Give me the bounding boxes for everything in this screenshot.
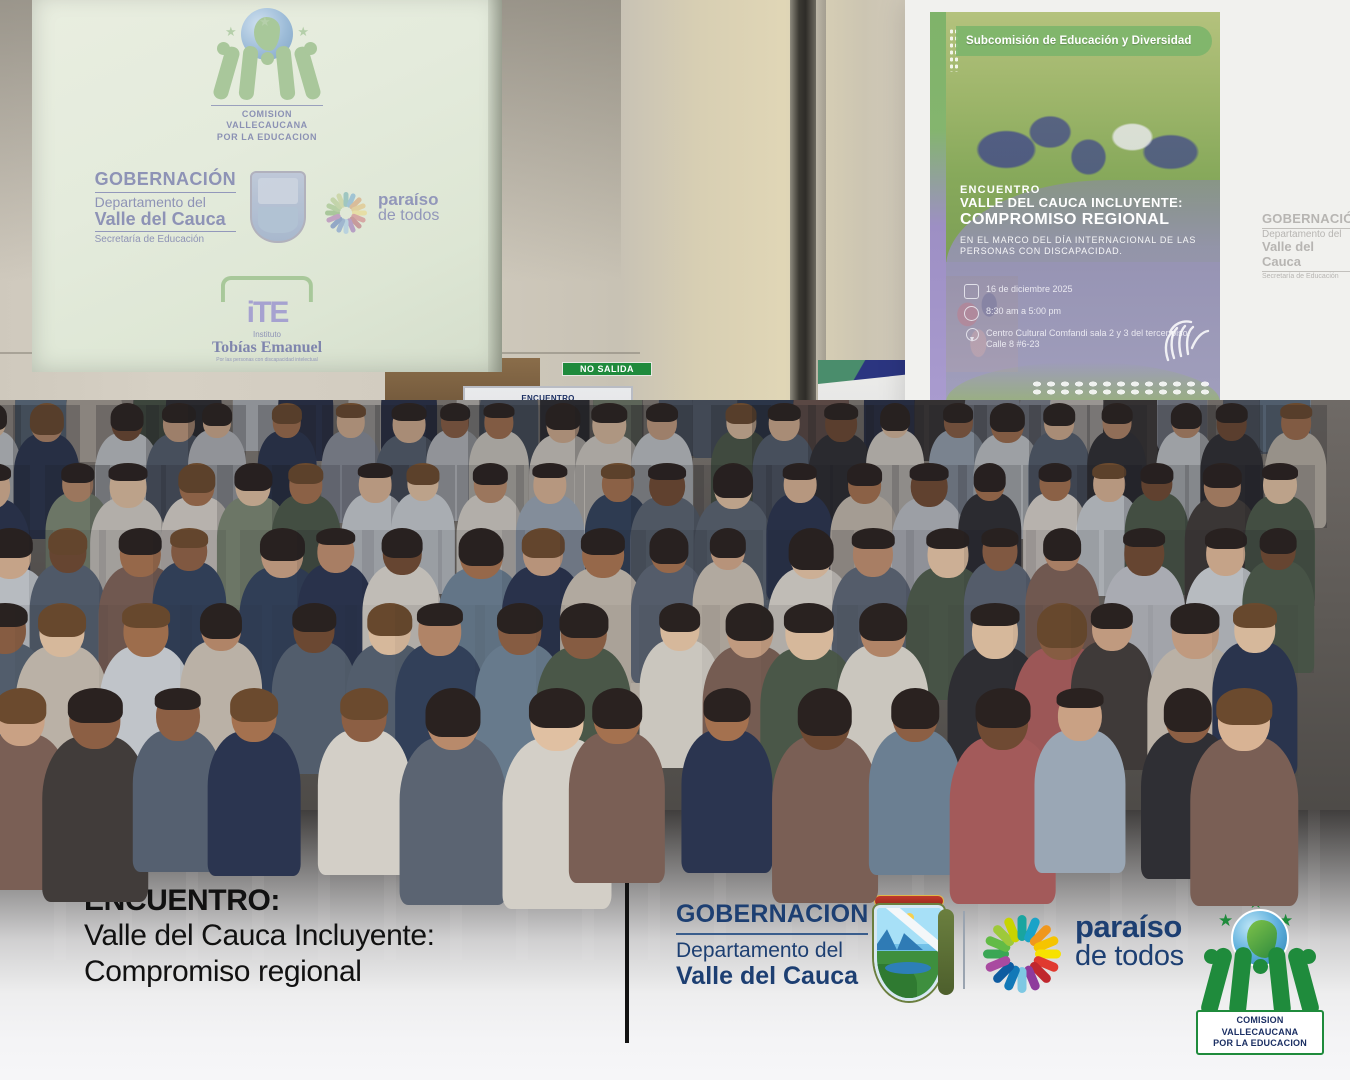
instituto-line-3: Por las personas con discapacidad intele…: [212, 357, 322, 363]
crowd-person: [1035, 690, 1126, 873]
left-projection-screen: ★ ★ ★ COMISION VALLECAUCANA POR LA EDUCA…: [32, 0, 502, 372]
footer-comision-logo: ★ ★ ★ COMISION VALLECAUCANA POR LA EDUCA…: [1190, 887, 1330, 1055]
footer-gobernacion-logo: GOBERNACIÓN Departamento del Valle del C…: [676, 901, 868, 990]
projected-paraiso-logo: paraíso de todos: [320, 181, 439, 233]
person-torso: [569, 732, 665, 883]
crowd-person: [318, 690, 410, 875]
footer-paraiso-logo: paraíso de todos: [978, 897, 1184, 985]
footer-divider: [625, 876, 629, 1043]
person-hair: [975, 688, 1030, 728]
person-hair: [704, 688, 751, 722]
paraiso-line-2: de todos: [378, 208, 439, 224]
crowd-person: [772, 690, 878, 903]
no-salida-sign: NO SALIDA: [562, 362, 652, 376]
projected-gobernacion-row: GOBERNACIÓN Departamento del Valle del C…: [32, 170, 502, 245]
far-gobernacion-line-3: Valle del Cauca: [1262, 240, 1350, 272]
crowd-person: [1190, 690, 1297, 906]
person-hair: [1057, 688, 1104, 708]
location-pin-icon: [964, 328, 979, 343]
gobernacion-line-3: Valle del Cauca: [95, 210, 236, 232]
rollup-banner-header: [818, 360, 908, 384]
comision-line-2: VALLECAUCANA: [211, 120, 323, 131]
slide-header-text: Subcomisión de Educación y Diversidad: [966, 35, 1191, 47]
footer-paraiso-line-1: paraíso: [1075, 912, 1184, 942]
gobernacion-line-4: Secretaría de Educación: [95, 234, 236, 245]
person-torso: [772, 736, 878, 902]
crowd-person: [682, 690, 773, 873]
star-icon: ★: [1218, 911, 1233, 931]
footer-gobernacion-line-3: Valle del Cauca: [676, 963, 868, 991]
person-torso: [1190, 737, 1297, 906]
crowd-person: [400, 690, 507, 905]
poster-footer: ENCUENTRO: Valle del Cauca Incluyente: C…: [0, 865, 1350, 1080]
person-hair: [426, 688, 481, 737]
far-gobernacion-line-4: Secretaría de Educación: [1262, 273, 1350, 281]
person-torso: [869, 730, 961, 875]
person-hair: [154, 688, 201, 710]
star-icon: ★: [259, 14, 271, 30]
footer-comision-text: COMISION VALLECAUCANA POR LA EDUCACION: [1196, 1010, 1324, 1055]
person-torso: [318, 730, 410, 875]
footer-paraiso-line-2: de todos: [1075, 942, 1184, 970]
person-torso: [208, 731, 301, 877]
projected-shield-icon: [250, 171, 306, 243]
slide-title-large: COMPROMISO REGIONAL: [960, 211, 1210, 229]
far-gobernacion-line-1: GOBERNACIÓN: [1262, 212, 1350, 229]
instituto-line-2: Tobías Emanuel: [212, 339, 322, 357]
person-hair: [891, 688, 939, 729]
person-hair: [230, 688, 278, 722]
projected-comision-text: COMISION VALLECAUCANA POR LA EDUCACION: [211, 105, 323, 143]
comision-line-3: POR LA EDUCACION: [211, 132, 323, 143]
far-right-projection: GOBERNACIÓN Departamento del Valle del C…: [1262, 212, 1350, 294]
clock-icon: [964, 306, 979, 321]
slide-header-band: Subcomisión de Educación y Diversidad: [956, 26, 1212, 56]
comision-line-1: COMISION: [211, 109, 323, 120]
left-screen-logos: ★ ★ ★ COMISION VALLECAUCANA POR LA EDUCA…: [32, 0, 502, 372]
footer-gobernacion-line-2: Departamento del: [676, 939, 868, 962]
gobernacion-line-1: GOBERNACIÓN: [95, 170, 236, 193]
shield-body: [874, 905, 944, 1001]
slide-subtitle: EN EL MARCO DEL DÍA INTERNACIONAL DE LAS…: [960, 235, 1210, 258]
star-icon: ★: [225, 24, 237, 40]
paraiso-burst-icon: [978, 897, 1066, 985]
event-slide: Subcomisión de Educación y Diversidad EN…: [930, 12, 1220, 402]
slide-left-accent-bar: [930, 12, 946, 402]
crowd-person: [869, 690, 961, 875]
calendar-icon: [964, 284, 979, 299]
person-torso: [682, 730, 773, 873]
projected-gobernacion-logo: GOBERNACIÓN Departamento del Valle del C…: [95, 170, 236, 245]
projected-comision-logo: ★ ★ ★ COMISION VALLECAUCANA POR LA EDUCA…: [211, 8, 323, 143]
footer-comision-line-2: VALLECAUCANA: [1200, 1027, 1320, 1039]
person-torso: [400, 737, 507, 905]
person-hair: [341, 688, 389, 720]
paraiso-burst-icon: [320, 181, 372, 233]
gobernacion-line-2: Departamento del: [95, 195, 236, 210]
person-hair: [592, 688, 642, 729]
poster-title-line-3: Compromiso regional: [84, 954, 435, 989]
slide-info-date-text: 16 de diciembre 2025: [986, 284, 1073, 295]
event-poster: ★ ★ ★ COMISION VALLECAUCANA POR LA EDUCA…: [0, 0, 1350, 1080]
projected-instituto-logo: iTE Instituto Tobías Emanuel Por las per…: [212, 276, 322, 363]
person-hair: [0, 688, 46, 724]
paraiso-line-1: paraíso: [378, 191, 439, 208]
slide-info-date: 16 de diciembre 2025: [964, 284, 1210, 299]
instituto-line-1: Instituto: [212, 330, 322, 339]
person-torso: [1035, 730, 1126, 873]
footer-gobernacion-rule: [676, 933, 868, 935]
person-hair: [798, 688, 853, 736]
crowd-person: [208, 690, 301, 876]
poster-title-line-2: Valle del Cauca Incluyente:: [84, 918, 435, 953]
slide-title-medium: VALLE DEL CAUCA INCLUYENTE:: [960, 196, 1210, 210]
person-hair: [1217, 688, 1272, 725]
footer-comision-line-1: COMISION: [1200, 1015, 1320, 1027]
person-hair: [68, 688, 122, 723]
star-icon: ★: [297, 24, 309, 40]
crowd-person: [569, 690, 665, 883]
sign-language-hands-icon: [1158, 302, 1212, 364]
people-figures-icon: [1202, 943, 1318, 1017]
footer-comision-line-3: POR LA EDUCACION: [1200, 1038, 1320, 1050]
slide-bottom-dots: [1030, 380, 1210, 396]
palm-branch-icon: [938, 909, 954, 995]
people-figures-icon: ★ ★ ★: [211, 44, 323, 100]
valle-del-cauca-coat-of-arms-icon: [862, 893, 956, 1011]
footer-logo-separator: [963, 911, 965, 989]
house-roof-icon: [221, 276, 313, 302]
river-icon: [885, 962, 931, 974]
footer-gobernacion-line-1: GOBERNACIÓN: [676, 901, 868, 929]
slide-info-time-text: 8:30 am a 5:00 pm: [986, 306, 1061, 317]
slide-titles: ENCUENTRO VALLE DEL CAUCA INCLUYENTE: CO…: [960, 184, 1210, 257]
